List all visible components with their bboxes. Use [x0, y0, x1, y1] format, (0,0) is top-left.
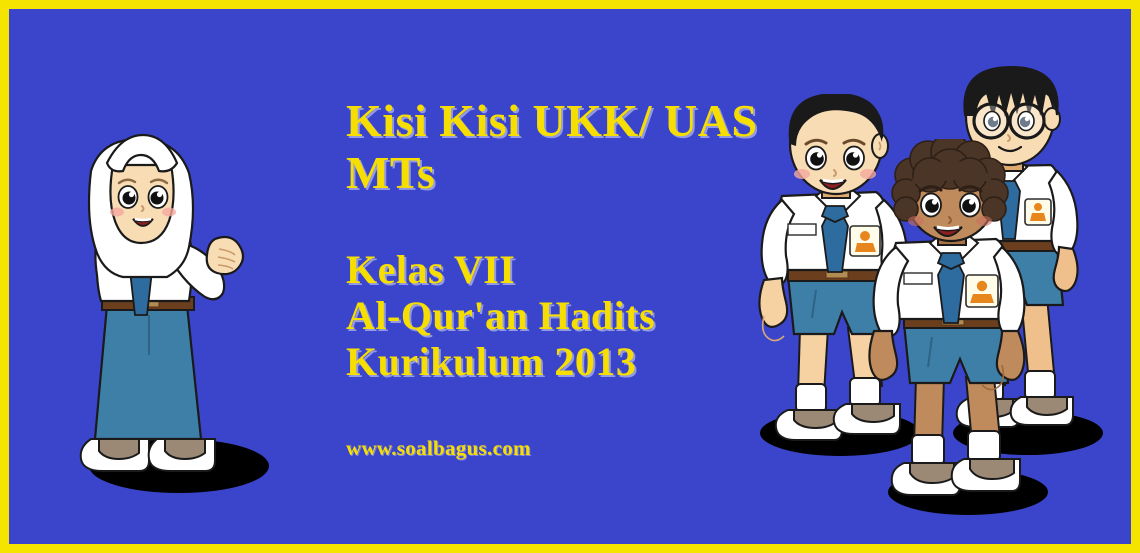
- heading-line-1: Kisi Kisi UKK/ UAS: [346, 95, 776, 147]
- subheading-line-1: Kelas VII: [346, 247, 776, 293]
- heading-line-2: MTs: [346, 147, 776, 199]
- banner-poster: Kisi Kisi UKK/ UAS MTs Kelas VII Al-Qur'…: [0, 0, 1140, 553]
- subheading-line-2: Al-Qur'an Hadits: [346, 293, 776, 339]
- website-url: www.soalbagus.com: [346, 436, 531, 461]
- subheading-block: Kelas VII Al-Qur'an Hadits Kurikulum 201…: [346, 247, 776, 385]
- heading-block: Kisi Kisi UKK/ UAS MTs: [346, 95, 776, 199]
- subheading-line-3: Kurikulum 2013: [346, 339, 776, 385]
- boy2-body-svg: [854, 139, 1064, 539]
- girl-body-svg: [69, 109, 289, 509]
- character-boy-student-2: [854, 139, 1064, 539]
- character-girl-student: [69, 109, 289, 509]
